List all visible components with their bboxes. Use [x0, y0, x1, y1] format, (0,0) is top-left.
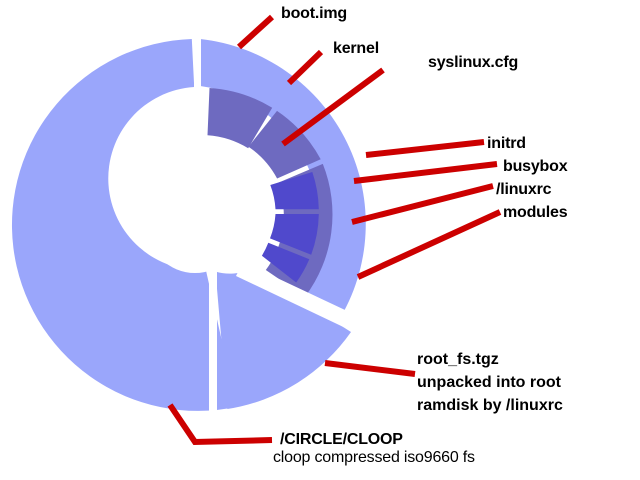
label-root-fs: root_fs.tgz unpacked into root ramdisk b…	[417, 348, 563, 417]
pointer-boot-img	[239, 17, 272, 47]
label-cloop-desc: cloop compressed iso9660 fs	[273, 448, 475, 468]
gap-bottom	[209, 268, 217, 413]
label-root-fs-line1: root_fs.tgz	[417, 348, 563, 371]
diagram-canvas: boot.img kernel syslinux.cfg initrd busy…	[0, 0, 640, 480]
pointer-busybox	[354, 164, 497, 181]
pointer-modules	[358, 212, 500, 277]
label-linuxrc: /linuxrc	[496, 180, 551, 200]
pointer-root-fs	[325, 363, 415, 374]
label-boot-img: boot.img	[281, 4, 347, 24]
pointer-initrd	[366, 142, 484, 155]
label-root-fs-line3: ramdisk by /linuxrc	[417, 394, 563, 417]
pointer-cloop	[170, 405, 272, 442]
pointer-linuxrc	[352, 186, 493, 222]
label-cloop-title: /CIRCLE/CLOOP	[280, 430, 403, 450]
label-syslinux-cfg: syslinux.cfg	[428, 53, 518, 73]
gap-top	[194, 36, 201, 231]
pointer-kernel	[289, 52, 321, 83]
label-busybox: busybox	[503, 157, 567, 177]
label-initrd: initrd	[487, 134, 526, 154]
label-modules: modules	[503, 203, 567, 223]
label-root-fs-line2: unpacked into root	[417, 371, 563, 394]
label-kernel: kernel	[333, 39, 379, 59]
